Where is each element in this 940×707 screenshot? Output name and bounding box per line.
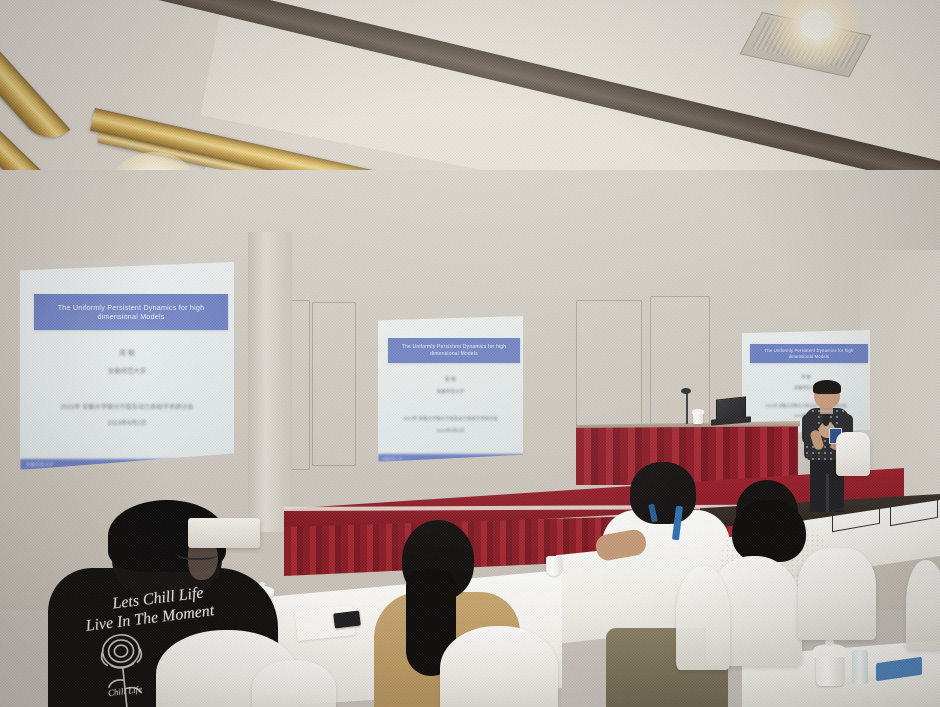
screen-right-title-box: The Uniformly Persistent Dynamics for hi… — [750, 344, 868, 363]
attendee-4-hair — [732, 500, 806, 562]
chair-2 — [440, 626, 558, 707]
slide-footer-left: 安徽师范大学 — [26, 462, 54, 468]
wall-panel-left-2 — [312, 302, 356, 466]
slide-event-line-c: 2023年 安徽大学微分方程及动力系统学术研讨会 — [378, 416, 523, 422]
screen-left-title-box: The Uniformly Persistent Dynamics for hi… — [34, 294, 228, 330]
screen-left: The Uniformly Persistent Dynamics for hi… — [20, 262, 234, 470]
smartphone — [333, 610, 361, 628]
screen-center: The Uniformly Persistent Dynamics for hi… — [378, 316, 523, 462]
slide-title-line2-c: dimensional Models — [430, 351, 478, 357]
attendee-3-head — [630, 462, 696, 524]
stage-cup — [693, 413, 703, 424]
slide-affiliation: 安徽师范大学 — [20, 366, 234, 375]
teacup-bottom-right-knob — [825, 639, 834, 646]
slide-affiliation-c: 安徽师范大学 — [378, 389, 523, 395]
slide-date-line-c: 2023年6月2日 — [378, 428, 523, 434]
stage-cup-lid — [692, 409, 704, 414]
slide-title-line2: dimensional Models — [97, 312, 164, 321]
slide-event-line: 2023年 安徽大学微分方程及动力系统学术研讨会 — [20, 402, 234, 411]
slide-footer-left-c: 安徽师范大学 — [382, 456, 402, 461]
microphone-head — [681, 388, 691, 394]
wall-pillar — [248, 232, 292, 532]
slide-speaker-name-c: 周 敏 — [378, 376, 523, 383]
gold-trim-band-1 — [0, 18, 70, 150]
paper-cup-center — [546, 556, 562, 576]
chair-5 — [676, 566, 730, 670]
conference-room-photo: The Uniformly Persistent Dynamics for hi… — [0, 0, 940, 707]
screen-center-title-box: The Uniformly Persistent Dynamics for hi… — [388, 338, 520, 363]
rose-icon — [80, 622, 167, 707]
chair-4 — [798, 548, 876, 640]
water-bottle — [852, 650, 868, 684]
glasses-icon — [816, 392, 838, 398]
slide-date-line: 2023年6月2日 — [20, 418, 234, 427]
lanyard — [820, 410, 833, 412]
teacup-bottom-right — [816, 654, 844, 686]
stage-chair — [836, 432, 870, 476]
projector-cable — [176, 542, 220, 560]
chair-6 — [906, 560, 940, 650]
slide-title-line2-r: dimensional Models — [789, 354, 830, 359]
slide-speaker-name: 周 敏 — [20, 348, 234, 358]
downlight-1-core — [800, 10, 834, 40]
slide-title-line1: The Uniformly Persistent Dynamics for hi… — [58, 303, 205, 312]
microphone-stand — [686, 392, 688, 424]
chair-7 — [252, 660, 336, 707]
slide-speaker-name-r: 周 敏 — [742, 374, 870, 380]
